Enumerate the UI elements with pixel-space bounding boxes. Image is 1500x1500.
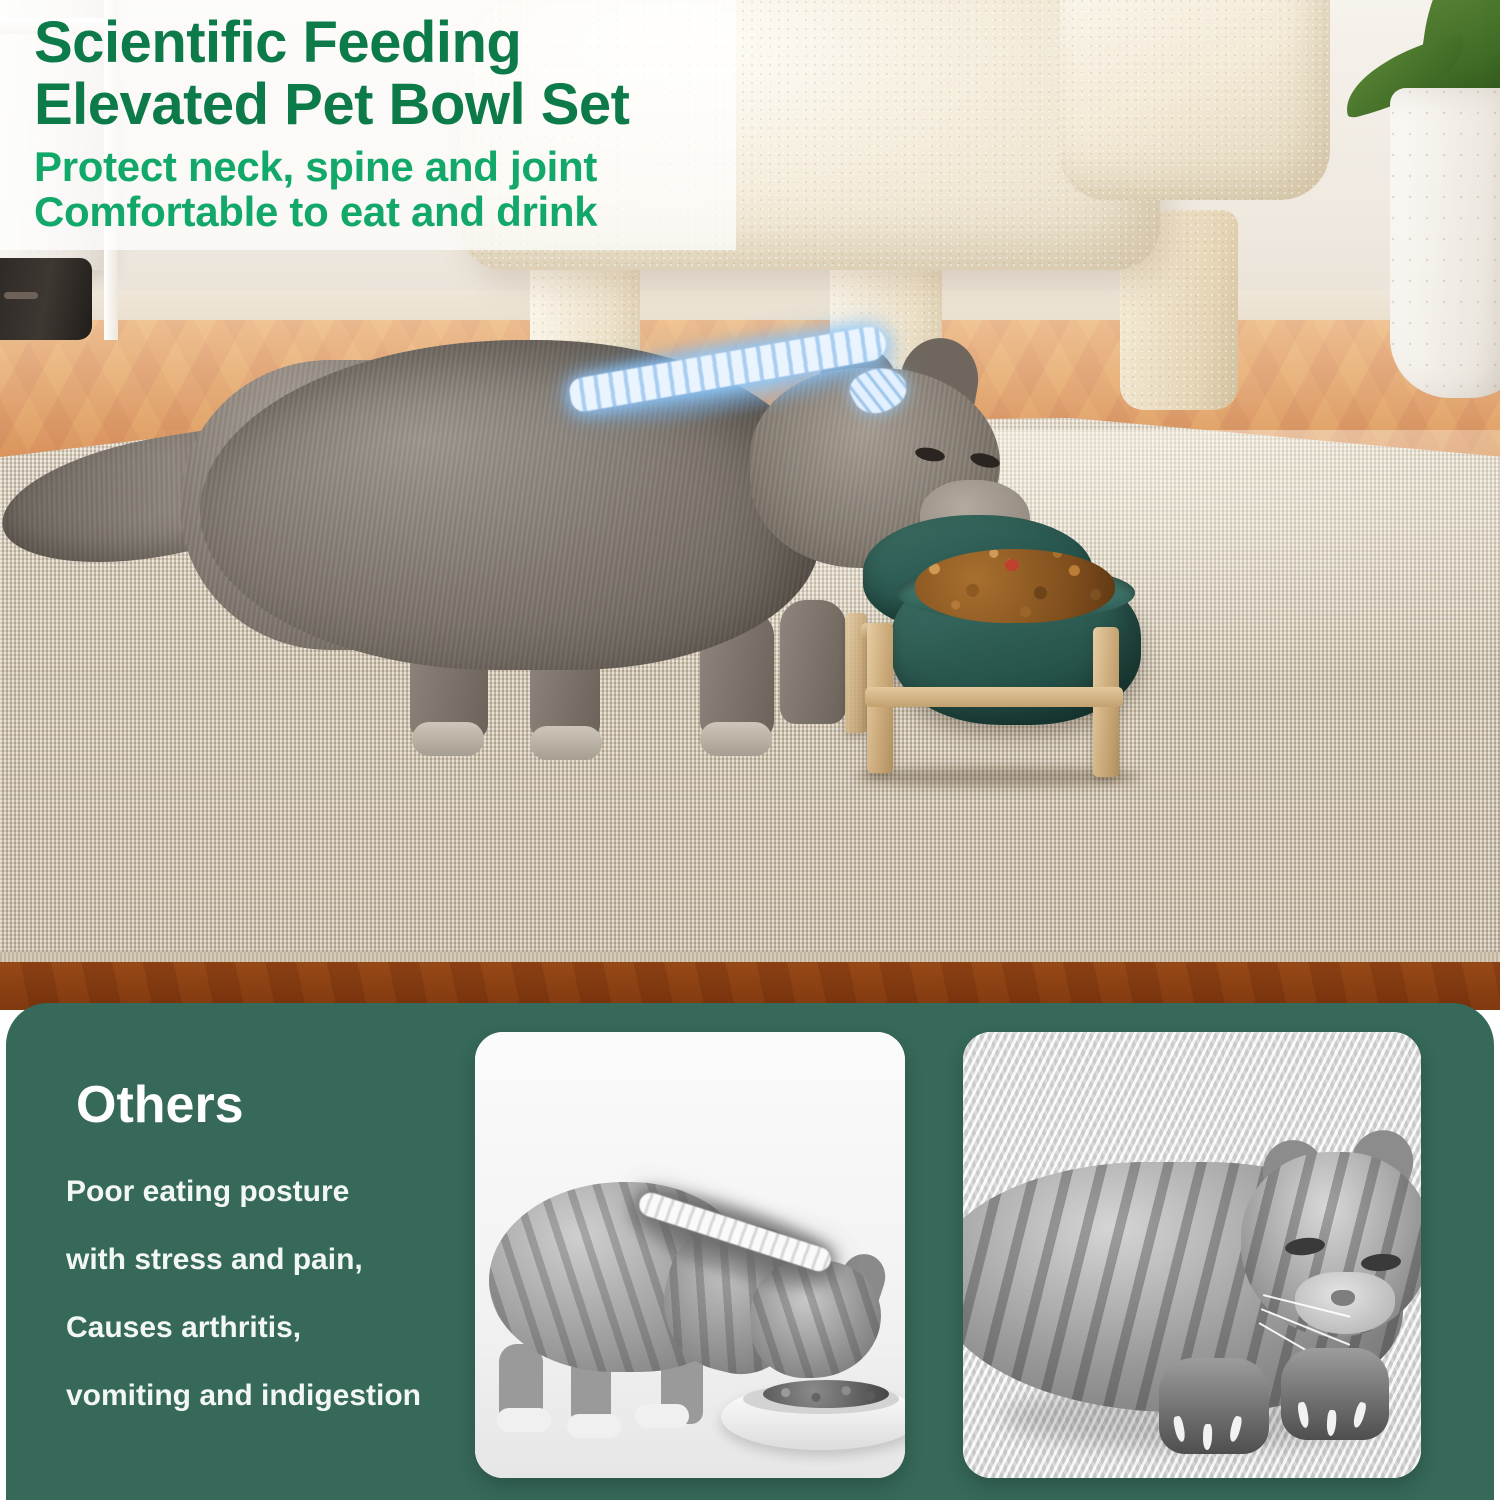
card1-cat-paw-c xyxy=(635,1404,689,1428)
bamboo-stand-bottom-rail xyxy=(865,687,1123,707)
cabinet-handle xyxy=(4,292,38,299)
headline-block: Scientific Feeding Elevated Pet Bowl Set… xyxy=(34,14,734,235)
cat-paw-c xyxy=(700,722,772,756)
subheadline-line-2: Comfortable to eat and drink xyxy=(34,189,734,234)
comparison-text-block: Others Poor eating posture with stress a… xyxy=(66,1075,466,1449)
comparison-title: Others xyxy=(76,1075,466,1135)
headline-line-1: Scientific Feeding xyxy=(34,14,734,72)
cat-paw-b xyxy=(530,726,602,760)
comparison-body-line-1: Poor eating posture xyxy=(66,1177,466,1207)
cat-paw-a xyxy=(412,722,484,756)
comparison-body-line-3: Causes arthritis, xyxy=(66,1313,466,1343)
cabinet-dark-base xyxy=(0,258,92,340)
card1-cat-paw-b xyxy=(567,1414,621,1438)
card2-cat-paw-left xyxy=(1159,1358,1269,1454)
cat-leg-back-right xyxy=(780,600,846,724)
comparison-body-line-4: vomiting and indigestion xyxy=(66,1381,466,1411)
product-marketing-image: Scientific Feeding Elevated Pet Bowl Set… xyxy=(0,0,1500,1500)
comparison-body-line-2: with stress and pain, xyxy=(66,1245,466,1275)
card2-cat-nose xyxy=(1331,1290,1355,1306)
card2-cat-paw-right xyxy=(1281,1348,1389,1440)
kibble-red-piece xyxy=(1005,559,1019,571)
card-bad-posture xyxy=(475,1032,905,1478)
card-lethargic-cat xyxy=(963,1032,1421,1478)
subheadline-line-1: Protect neck, spine and joint xyxy=(34,144,734,189)
white-ceramic-planter xyxy=(1390,88,1500,398)
hero-scene: Scientific Feeding Elevated Pet Bowl Set… xyxy=(0,0,1500,1010)
subheadline-block: Protect neck, spine and joint Comfortabl… xyxy=(34,144,734,235)
card1-plate-food xyxy=(763,1380,889,1408)
headline-line-2: Elevated Pet Bowl Set xyxy=(34,76,734,134)
card1-cat-paw-a xyxy=(497,1408,551,1432)
elevated-pet-bowl-set xyxy=(845,515,1145,785)
armchair-right-arm xyxy=(1060,0,1330,200)
